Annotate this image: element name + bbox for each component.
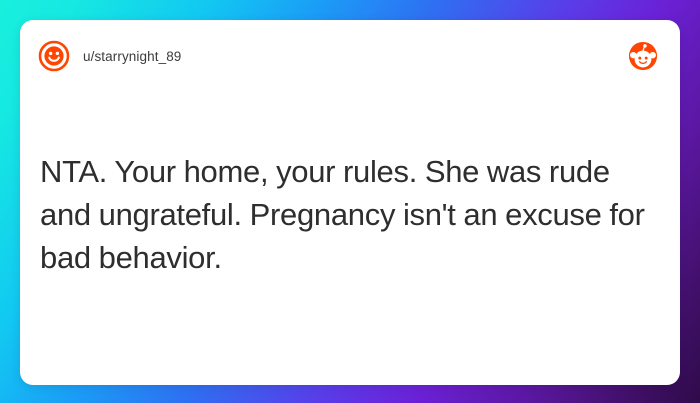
reddit-post-card: u/starrynight_89 NTA. Your home, your ru… [20,20,680,385]
post-header: u/starrynight_89 [20,20,680,92]
username-label: u/starrynight_89 [83,49,181,64]
screenshot-root: u/starrynight_89 NTA. Your home, your ru… [0,0,700,403]
reddit-snoo-logo-icon[interactable] [628,41,658,71]
smiley-face-avatar-icon [38,40,70,72]
post-text: NTA. Your home, your rules. She was rude… [40,150,650,279]
post-body: NTA. Your home, your rules. She was rude… [20,150,680,279]
